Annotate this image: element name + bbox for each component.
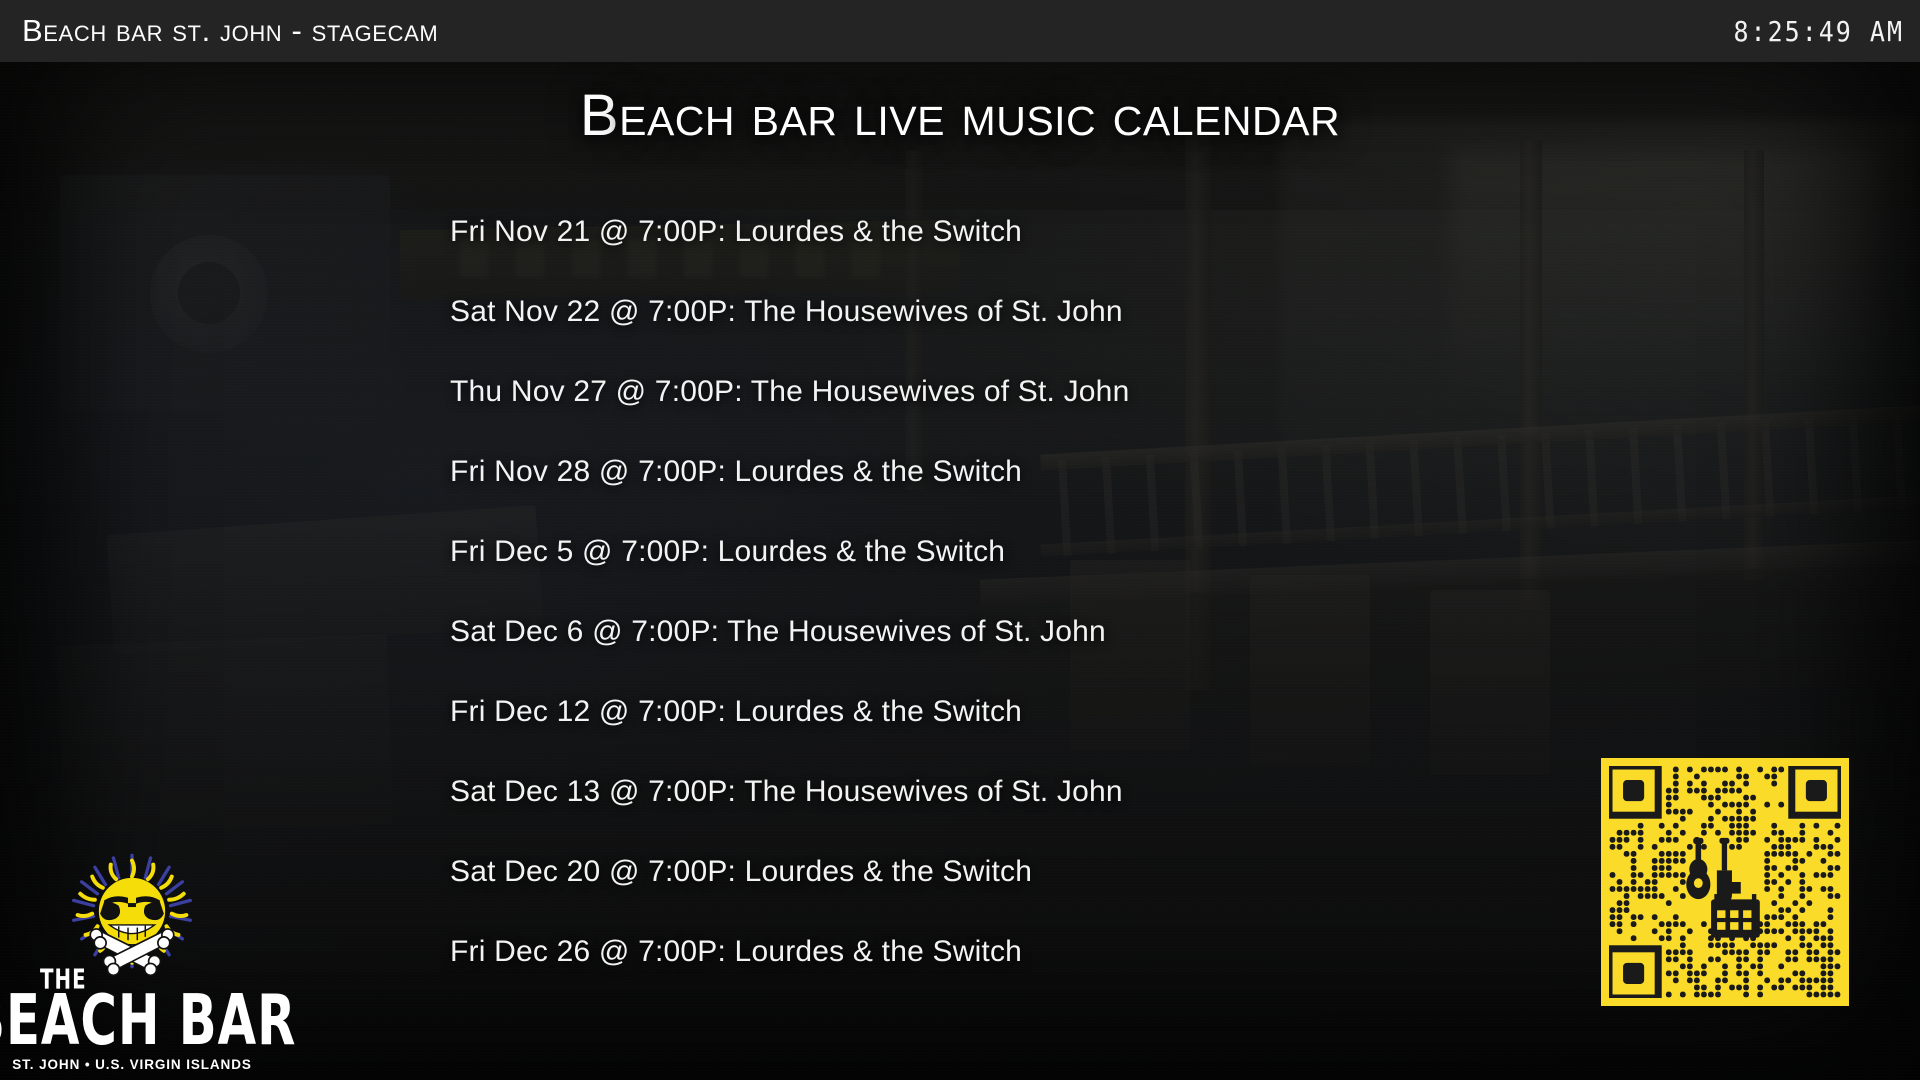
- clock-display: 8:25:49 AM: [1733, 15, 1904, 47]
- page-title: Beach Bar Live Music Calendar: [0, 82, 1920, 149]
- event-text: Sat Dec 20 @ 7:00P: Lourdes & the Switch: [450, 855, 1032, 889]
- event-text: Fri Nov 21 @ 7:00P: Lourdes & the Switch: [450, 215, 1022, 249]
- event-text: Sat Nov 22 @ 7:00P: The Housewives of St…: [450, 295, 1123, 329]
- qr-code[interactable]: [1601, 758, 1849, 1006]
- stagecam-screen: Beach Bar St. John - StageCam 8:25:49 AM…: [0, 0, 1920, 1080]
- event-row: Sat Dec 13 @ 7:00P: The Housewives of St…: [450, 752, 1129, 832]
- event-row: Fri Dec 5 @ 7:00P: Lourdes & the Switch: [450, 512, 1129, 592]
- camera-title: Beach Bar St. John - StageCam: [22, 13, 438, 49]
- top-bar: Beach Bar St. John - StageCam 8:25:49 AM: [0, 0, 1920, 62]
- event-text: Fri Dec 5 @ 7:00P: Lourdes & the Switch: [450, 535, 1005, 569]
- event-row: Fri Nov 28 @ 7:00P: Lourdes & the Switch: [450, 432, 1129, 512]
- event-row: Thu Nov 27 @ 7:00P: The Housewives of St…: [450, 352, 1129, 432]
- event-text: Sat Dec 13 @ 7:00P: The Housewives of St…: [450, 775, 1123, 809]
- event-text: Fri Nov 28 @ 7:00P: Lourdes & the Switch: [450, 455, 1022, 489]
- event-row: Sat Nov 22 @ 7:00P: The Housewives of St…: [450, 272, 1129, 352]
- event-text: Fri Dec 26 @ 7:00P: Lourdes & the Switch: [450, 935, 1022, 969]
- beach-bar-logo: THE BEACH BAR ST. JOHN • U.S. VIRGIN ISL…: [18, 850, 246, 1072]
- qr-code-graphic[interactable]: [1609, 766, 1841, 998]
- event-text: Sat Dec 6 @ 7:00P: The Housewives of St.…: [450, 615, 1106, 649]
- logo-name-text: BEACH BAR: [0, 989, 297, 1053]
- event-text: Thu Nov 27 @ 7:00P: The Housewives of St…: [450, 375, 1129, 409]
- event-row: Sat Dec 6 @ 7:00P: The Housewives of St.…: [450, 592, 1129, 672]
- guitars-and-calendar-icon: [1686, 838, 1760, 938]
- event-text: Fri Dec 12 @ 7:00P: Lourdes & the Switch: [450, 695, 1022, 729]
- sun-skull-crossbones-icon: [64, 850, 200, 976]
- event-row: Fri Dec 26 @ 7:00P: Lourdes & the Switch: [450, 912, 1129, 992]
- event-row: Fri Dec 12 @ 7:00P: Lourdes & the Switch: [450, 672, 1129, 752]
- event-row: Sat Dec 20 @ 7:00P: Lourdes & the Switch: [450, 832, 1129, 912]
- event-row: Fri Nov 21 @ 7:00P: Lourdes & the Switch: [450, 192, 1129, 272]
- event-list: Fri Nov 21 @ 7:00P: Lourdes & the Switch…: [450, 192, 1129, 992]
